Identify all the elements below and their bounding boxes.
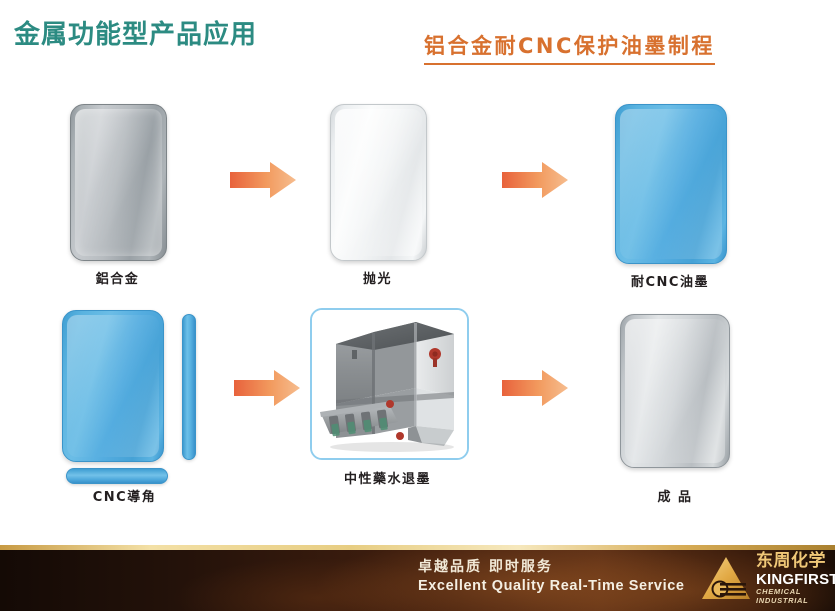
footer-slogan-cn: 卓越品质 即时服务 <box>418 559 685 577</box>
logo-tagline: CHEMICAL INDUSTRIAL <box>756 587 835 605</box>
footer-gold-rule <box>0 545 835 550</box>
flow-arrow-2 <box>500 160 570 200</box>
flow-arrow-4 <box>500 368 570 408</box>
flow-arrow-1 <box>228 160 298 200</box>
process-stage-cnc-ink: 耐CNC油墨 <box>615 104 725 289</box>
finished-plate-icon <box>620 314 730 468</box>
footer-slogan: 卓越品质 即时服务 Excellent Quality Real-Time Se… <box>418 559 685 595</box>
stage-label-polish: 抛光 <box>330 268 425 287</box>
process-stage-polish: 抛光 <box>330 104 425 289</box>
stage-label-cnc-ink: 耐CNC油墨 <box>615 271 725 290</box>
stage-label-ink-stripping: 中性藥水退墨 <box>305 468 470 487</box>
plate-side-view-icon <box>182 314 196 460</box>
kingfirst-triangle-icon <box>700 554 752 607</box>
process-stage-ink-stripping: 中性藥水退墨 <box>310 308 470 503</box>
aluminium-plate-icon <box>70 104 167 261</box>
blue-chamfered-plate-icon <box>62 310 164 462</box>
equipment-photo-card <box>310 308 469 460</box>
footer-slogan-en: Excellent Quality Real-Time Service <box>418 577 685 596</box>
stage-label-cnc-chamfer: CNC導角 <box>52 486 197 505</box>
logo-name-cn: 东周化学 <box>756 552 835 572</box>
stage-label-aluminium: 鋁合金 <box>70 268 165 287</box>
page-title-right: 铝合金耐CNC保护油墨制程 <box>424 30 715 65</box>
polished-plate-icon <box>330 104 427 261</box>
process-stage-finished: 成 品 <box>620 314 730 504</box>
slide-canvas: 金属功能型产品应用 铝合金耐CNC保护油墨制程 鋁合金 抛光 <box>0 0 835 611</box>
stage-label-finished: 成 品 <box>620 486 730 505</box>
flow-arrow-3 <box>232 368 302 408</box>
company-logo: 东周化学 KINGFIRST CHEMICAL INDUSTRIAL <box>700 552 830 604</box>
plate-bottom-edge-view-icon <box>66 468 168 484</box>
process-stage-aluminium: 鋁合金 <box>70 104 165 289</box>
process-stage-cnc-chamfer: CNC導角 <box>62 310 207 500</box>
page-title-left: 金属功能型产品应用 <box>14 14 257 51</box>
blue-ink-plate-icon <box>615 104 727 264</box>
logo-wordmark: 东周化学 KINGFIRST CHEMICAL INDUSTRIAL <box>756 552 835 605</box>
logo-name-en: KINGFIRST <box>756 572 835 588</box>
ink-stripping-machine-icon <box>312 310 467 458</box>
